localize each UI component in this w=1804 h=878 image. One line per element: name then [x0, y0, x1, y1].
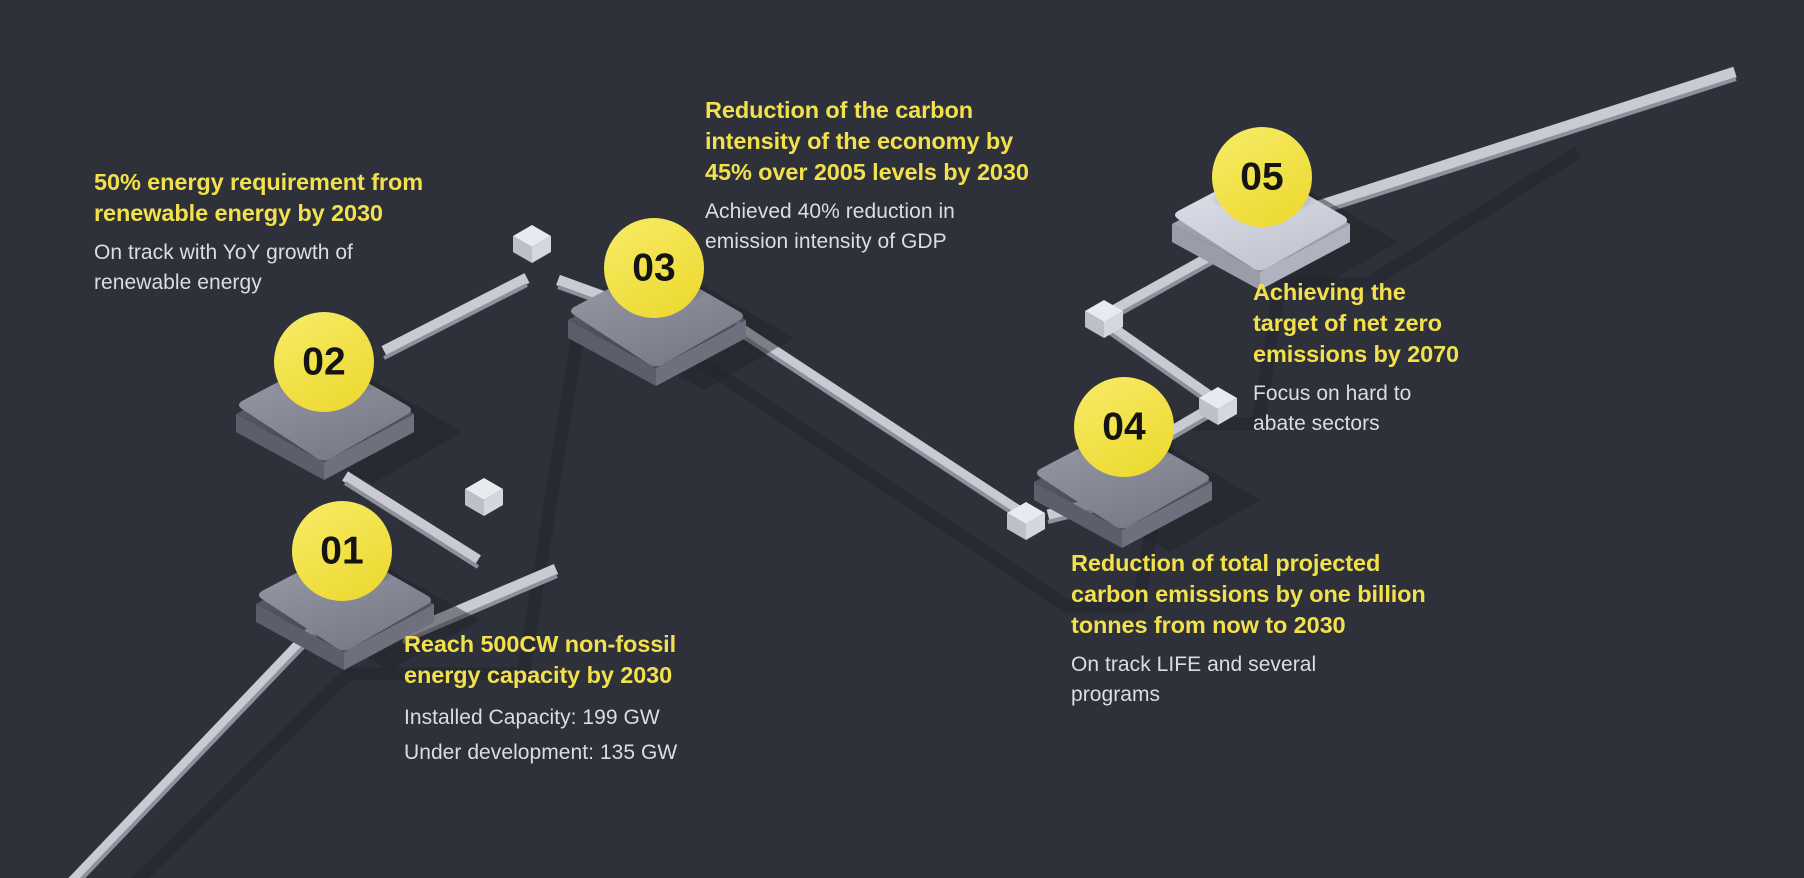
milestone-02-text-block: 50% energy requirement from renewable en… — [94, 167, 444, 298]
milestone-02-heading-line-1: 50% energy requirement from — [94, 167, 444, 198]
milestone-04-subtext: On track LIFE and several programs — [1071, 650, 1451, 710]
milestone-01-number: 01 — [320, 530, 363, 573]
milestone-05-heading: Achieving the target of net zero emissio… — [1253, 277, 1493, 370]
milestone-04-heading-line-3: tonnes from now to 2030 — [1071, 610, 1451, 641]
milestone-01-heading: Reach 500CW non-fossil energy capacity b… — [404, 629, 734, 691]
milestone-02-heading-line-2: renewable energy by 2030 — [94, 198, 444, 229]
milestone-05-subtext: Focus on hard to abate sectors — [1253, 379, 1493, 439]
milestone-02-subtext: On track with YoY growth of renewable en… — [94, 238, 444, 298]
milestone-01-subtext-line-2: Under development: 135 GW — [404, 735, 734, 770]
infographic-canvas: 01 02 — [0, 0, 1804, 878]
milestone-01-heading-line-1: Reach 500CW non-fossil — [404, 629, 734, 660]
milestone-04-text-block: Reduction of total projected carbon emis… — [1071, 548, 1451, 710]
milestone-03-heading-line-3: 45% over 2005 levels by 2030 — [705, 157, 1060, 188]
milestone-05-heading-line-2: target of net zero — [1253, 308, 1493, 339]
milestone-04-number: 04 — [1102, 406, 1146, 449]
milestone-05-heading-line-1: Achieving the — [1253, 277, 1493, 308]
milestone-04-heading: Reduction of total projected carbon emis… — [1071, 548, 1451, 641]
milestone-marker-04[interactable]: 04 — [1074, 377, 1174, 477]
milestone-01-heading-line-2: energy capacity by 2030 — [404, 660, 734, 691]
milestone-03-subtext-line-2: emission intensity of GDP — [705, 227, 1060, 257]
milestone-02-heading: 50% energy requirement from renewable en… — [94, 167, 444, 229]
milestone-marker-03[interactable]: 03 — [604, 218, 704, 318]
milestone-04-subtext-line-2: programs — [1071, 680, 1451, 710]
milestone-03-text-block: Reduction of the carbon intensity of the… — [705, 95, 1060, 257]
milestone-03-heading-line-2: intensity of the economy by — [705, 126, 1060, 157]
milestone-01-subtext: Installed Capacity: 199 GW Under develop… — [404, 700, 734, 770]
milestone-02-subtext-line-1: On track with YoY growth of — [94, 238, 444, 268]
milestone-marker-02[interactable]: 02 — [274, 312, 374, 412]
milestone-marker-05[interactable]: 05 — [1212, 127, 1312, 227]
milestone-04-heading-line-2: carbon emissions by one billion — [1071, 579, 1451, 610]
milestone-03-subtext: Achieved 40% reduction in emission inten… — [705, 197, 1060, 257]
connector-cube-b — [513, 225, 551, 263]
milestone-02-number: 02 — [302, 341, 345, 384]
milestone-03-heading: Reduction of the carbon intensity of the… — [705, 95, 1060, 188]
milestone-05-subtext-line-1: Focus on hard to — [1253, 379, 1493, 409]
milestone-05-number: 05 — [1240, 156, 1283, 199]
connector-cube-a — [465, 478, 503, 516]
milestone-04-subtext-line-1: On track LIFE and several — [1071, 650, 1451, 680]
milestone-03-heading-line-1: Reduction of the carbon — [705, 95, 1060, 126]
milestone-marker-01[interactable]: 01 — [292, 501, 392, 601]
milestone-02-subtext-line-2: renewable energy — [94, 268, 444, 298]
milestone-04-heading-line-1: Reduction of total projected — [1071, 548, 1451, 579]
milestone-01-subtext-line-1: Installed Capacity: 199 GW — [404, 700, 734, 735]
milestone-05-subtext-line-2: abate sectors — [1253, 409, 1493, 439]
milestone-05-text-block: Achieving the target of net zero emissio… — [1253, 277, 1493, 439]
milestone-01-text-block: Reach 500CW non-fossil energy capacity b… — [404, 629, 734, 770]
milestone-03-number: 03 — [632, 247, 675, 290]
milestone-03-subtext-line-1: Achieved 40% reduction in — [705, 197, 1060, 227]
milestone-05-heading-line-3: emissions by 2070 — [1253, 339, 1493, 370]
